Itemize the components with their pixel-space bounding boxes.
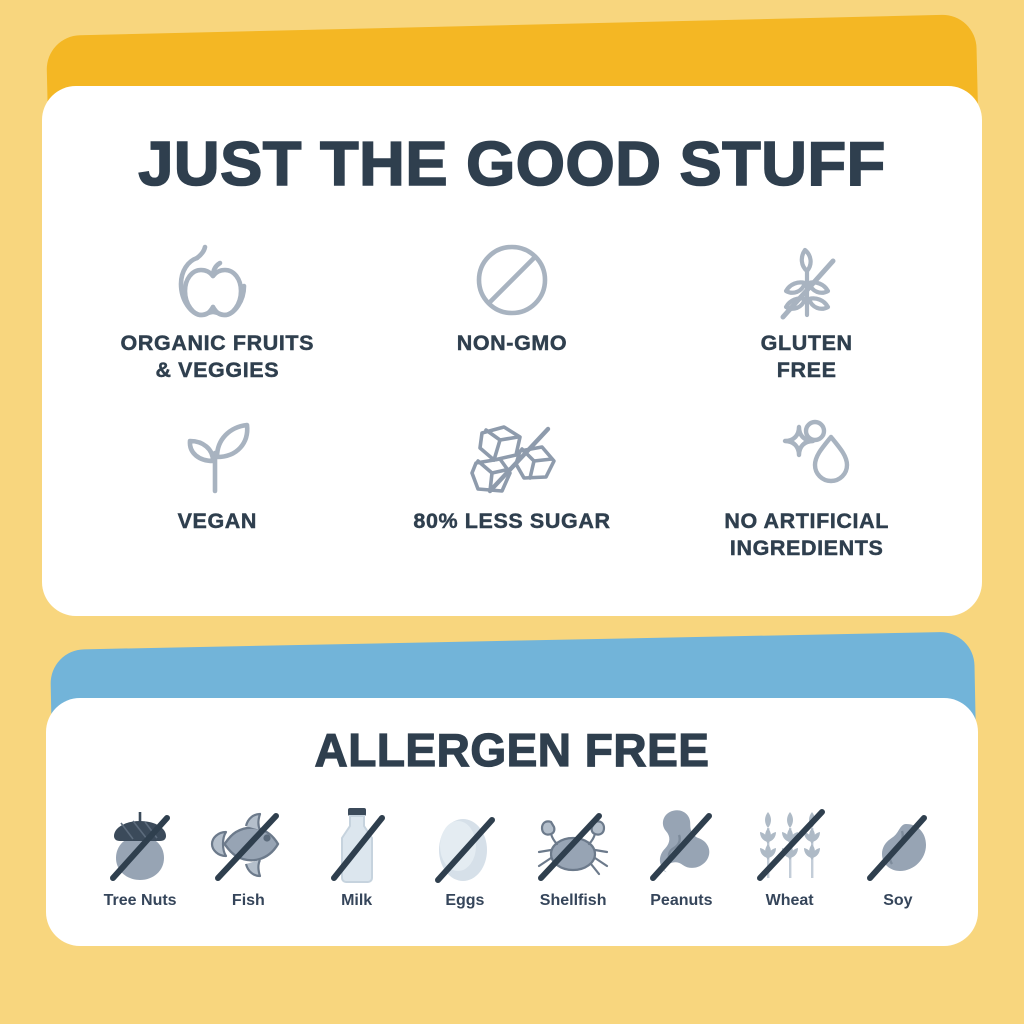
- benefit-label: GLUTEN FREE: [761, 330, 853, 383]
- benefit-no-artificial[interactable]: NO ARTIFICIAL INGREDIENTS: [659, 414, 954, 564]
- egg-slash-icon: [419, 800, 511, 886]
- benefit-label: NO ARTIFICIAL INGREDIENTS: [724, 508, 889, 561]
- benefit-label-line1: NON-GMO: [457, 331, 568, 355]
- benefits-grid: ORGANIC FRUITS & VEGGIES NON-GMO: [70, 236, 954, 564]
- allergen-label: Fish: [232, 892, 265, 910]
- allergen-shellfish[interactable]: Shellfish: [519, 800, 627, 910]
- allergen-section-title: ALLERGEN FREE: [0, 727, 1024, 773]
- benefit-label-line2: & VEGGIES: [155, 358, 279, 382]
- allergen-grid: Tree Nuts Fish: [86, 800, 952, 910]
- peanut-slash-icon: [635, 800, 727, 886]
- benefit-label: ORGANIC FRUITS & VEGGIES: [121, 330, 315, 383]
- benefit-label-line1: ORGANIC FRUITS: [121, 331, 315, 355]
- milk-bottle-slash-icon: [311, 800, 403, 886]
- allergen-label: Shellfish: [540, 892, 607, 910]
- soybean-slash-icon: [852, 800, 944, 886]
- benefit-label-line1: 80% LESS SUGAR: [413, 509, 610, 533]
- allergen-soy[interactable]: Soy: [844, 800, 952, 910]
- crab-slash-icon: [527, 800, 619, 886]
- allergen-fish[interactable]: Fish: [194, 800, 302, 910]
- benefit-label-line1: GLUTEN: [761, 331, 853, 355]
- benefit-label: VEGAN: [178, 508, 257, 535]
- allergen-peanuts[interactable]: Peanuts: [627, 800, 735, 910]
- allergen-label: Milk: [341, 892, 372, 910]
- page-title: JUST THE GOOD STUFF: [0, 134, 1024, 196]
- benefit-gluten-free[interactable]: GLUTEN FREE: [659, 236, 954, 386]
- allergen-milk[interactable]: Milk: [303, 800, 411, 910]
- allergen-label: Soy: [883, 892, 912, 910]
- benefit-label-line1: VEGAN: [178, 509, 257, 533]
- allergen-tree-nuts[interactable]: Tree Nuts: [86, 800, 194, 910]
- wheat-stalks-slash-icon: [744, 800, 836, 886]
- prohibition-icon: [457, 236, 567, 324]
- benefit-less-sugar[interactable]: 80% LESS SUGAR: [365, 414, 660, 564]
- allergen-label: Wheat: [766, 892, 814, 910]
- benefit-vegan[interactable]: VEGAN: [70, 414, 365, 564]
- benefit-label-line1: NO ARTIFICIAL: [724, 509, 889, 533]
- infographic-stage: JUST THE GOOD STUFF ORGANIC FRUITS & VEG…: [0, 0, 1024, 1024]
- leaf-sprout-icon: [162, 414, 272, 502]
- fish-slash-icon: [202, 800, 294, 886]
- allergen-label: Tree Nuts: [104, 892, 177, 910]
- sparkle-droplet-icon: [752, 414, 862, 502]
- wheat-slash-icon: [752, 236, 862, 324]
- benefit-label-line2: INGREDIENTS: [730, 536, 884, 560]
- allergen-eggs[interactable]: Eggs: [411, 800, 519, 910]
- benefit-label: NON-GMO: [457, 330, 568, 357]
- benefit-label: 80% LESS SUGAR: [413, 508, 610, 535]
- allergen-wheat[interactable]: Wheat: [736, 800, 844, 910]
- sugar-cubes-slash-icon: [457, 414, 567, 502]
- benefit-non-gmo[interactable]: NON-GMO: [365, 236, 660, 386]
- benefit-label-line2: FREE: [777, 358, 837, 382]
- allergen-label: Eggs: [445, 892, 484, 910]
- pear-apple-icon: [162, 236, 272, 324]
- benefit-organic-fruits[interactable]: ORGANIC FRUITS & VEGGIES: [70, 236, 365, 386]
- allergen-label: Peanuts: [650, 892, 712, 910]
- acorn-slash-icon: [94, 800, 186, 886]
